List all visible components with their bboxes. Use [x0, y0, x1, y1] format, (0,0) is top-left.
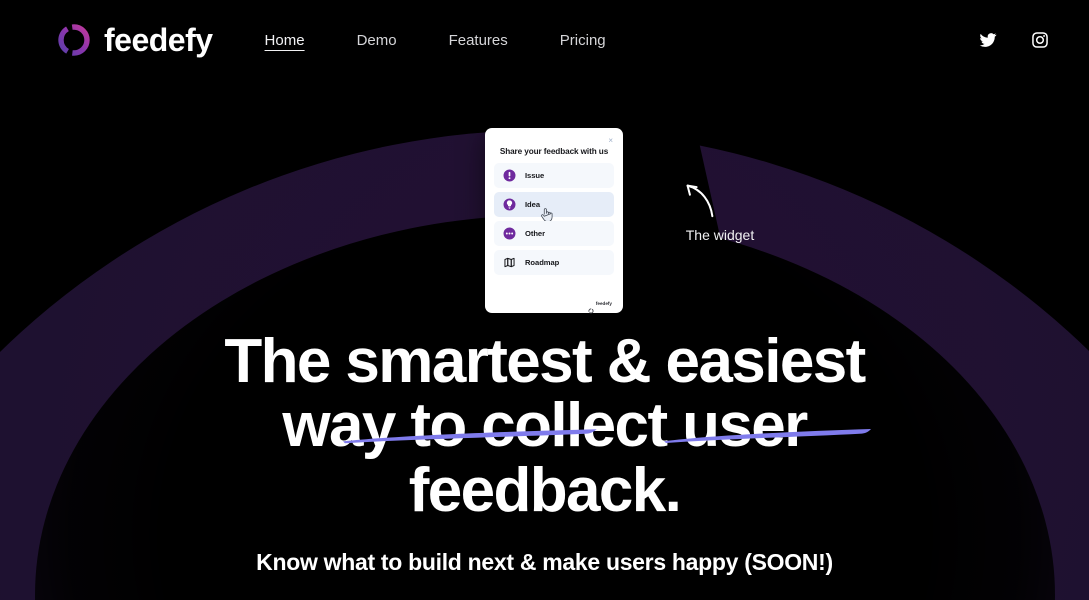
hero-highlight-smartest: smartest	[345, 330, 591, 394]
nav-link-demo[interactable]: Demo	[331, 27, 423, 54]
ellipsis-circle-icon	[503, 227, 516, 240]
hero-title-line-1: The smartest & easiest	[224, 327, 864, 396]
nav-link-features[interactable]: Features	[423, 27, 534, 54]
brand-logo[interactable]: feedefy	[56, 22, 213, 58]
widget-footer-brand: feedefy	[494, 301, 614, 307]
page-title: The smartest & easiest way to collect us…	[90, 330, 999, 523]
main-nav: Home Demo Features Pricing	[239, 27, 632, 54]
hero-title-pre: The	[224, 327, 345, 396]
hero-highlight-text: smartest	[345, 327, 591, 396]
hero-highlight-easiest: easiest	[666, 330, 865, 394]
site-header: feedefy Home Demo Features Pricing	[0, 0, 1089, 80]
widget-row-label: Issue	[525, 172, 544, 180]
hero-section: The smartest & easiest way to collect us…	[0, 330, 1089, 576]
feedefy-ring-logo-icon	[56, 22, 92, 58]
curved-arrow-up-left-icon	[678, 178, 720, 220]
twitter-icon[interactable]	[979, 31, 997, 49]
widget-row-issue[interactable]: Issue	[494, 163, 614, 188]
lightbulb-circle-icon	[503, 198, 516, 211]
page-root: feedefy Home Demo Features Pricing	[0, 0, 1089, 600]
feedefy-ring-logo-icon	[588, 301, 594, 307]
social-links	[979, 31, 1049, 49]
hero-highlight-text: easiest	[666, 327, 865, 396]
hero-title-line-2: way to collect user	[282, 391, 806, 460]
instagram-icon[interactable]	[1031, 31, 1049, 49]
alert-circle-icon	[503, 169, 516, 182]
widget-row-other[interactable]: Other	[494, 221, 614, 246]
widget-row-label: Idea	[525, 201, 540, 209]
feedback-widget-card[interactable]: × Share your feedback with us Issue	[485, 128, 623, 313]
annotation-label: The widget	[672, 228, 768, 242]
widget-row-idea[interactable]: Idea	[494, 192, 614, 217]
map-icon	[503, 256, 516, 269]
nav-link-home[interactable]: Home	[239, 27, 331, 54]
widget-option-list: Issue Idea	[494, 163, 614, 275]
hero-subtitle: Know what to build next & make users hap…	[90, 550, 999, 575]
widget-title: Share your feedback with us	[494, 147, 614, 156]
close-icon[interactable]: ×	[606, 135, 615, 147]
widget-footer-brand-name: feedefy	[596, 302, 612, 307]
hero-title-line-3: feedback.	[409, 456, 681, 525]
widget-row-roadmap[interactable]: Roadmap	[494, 250, 614, 275]
widget-row-label: Roadmap	[525, 259, 559, 267]
widget-row-label: Other	[525, 230, 545, 238]
widget-annotation: The widget	[672, 178, 768, 242]
brand-name: feedefy	[104, 24, 213, 56]
hero-title-mid: &	[591, 327, 665, 396]
nav-link-pricing[interactable]: Pricing	[534, 27, 632, 54]
